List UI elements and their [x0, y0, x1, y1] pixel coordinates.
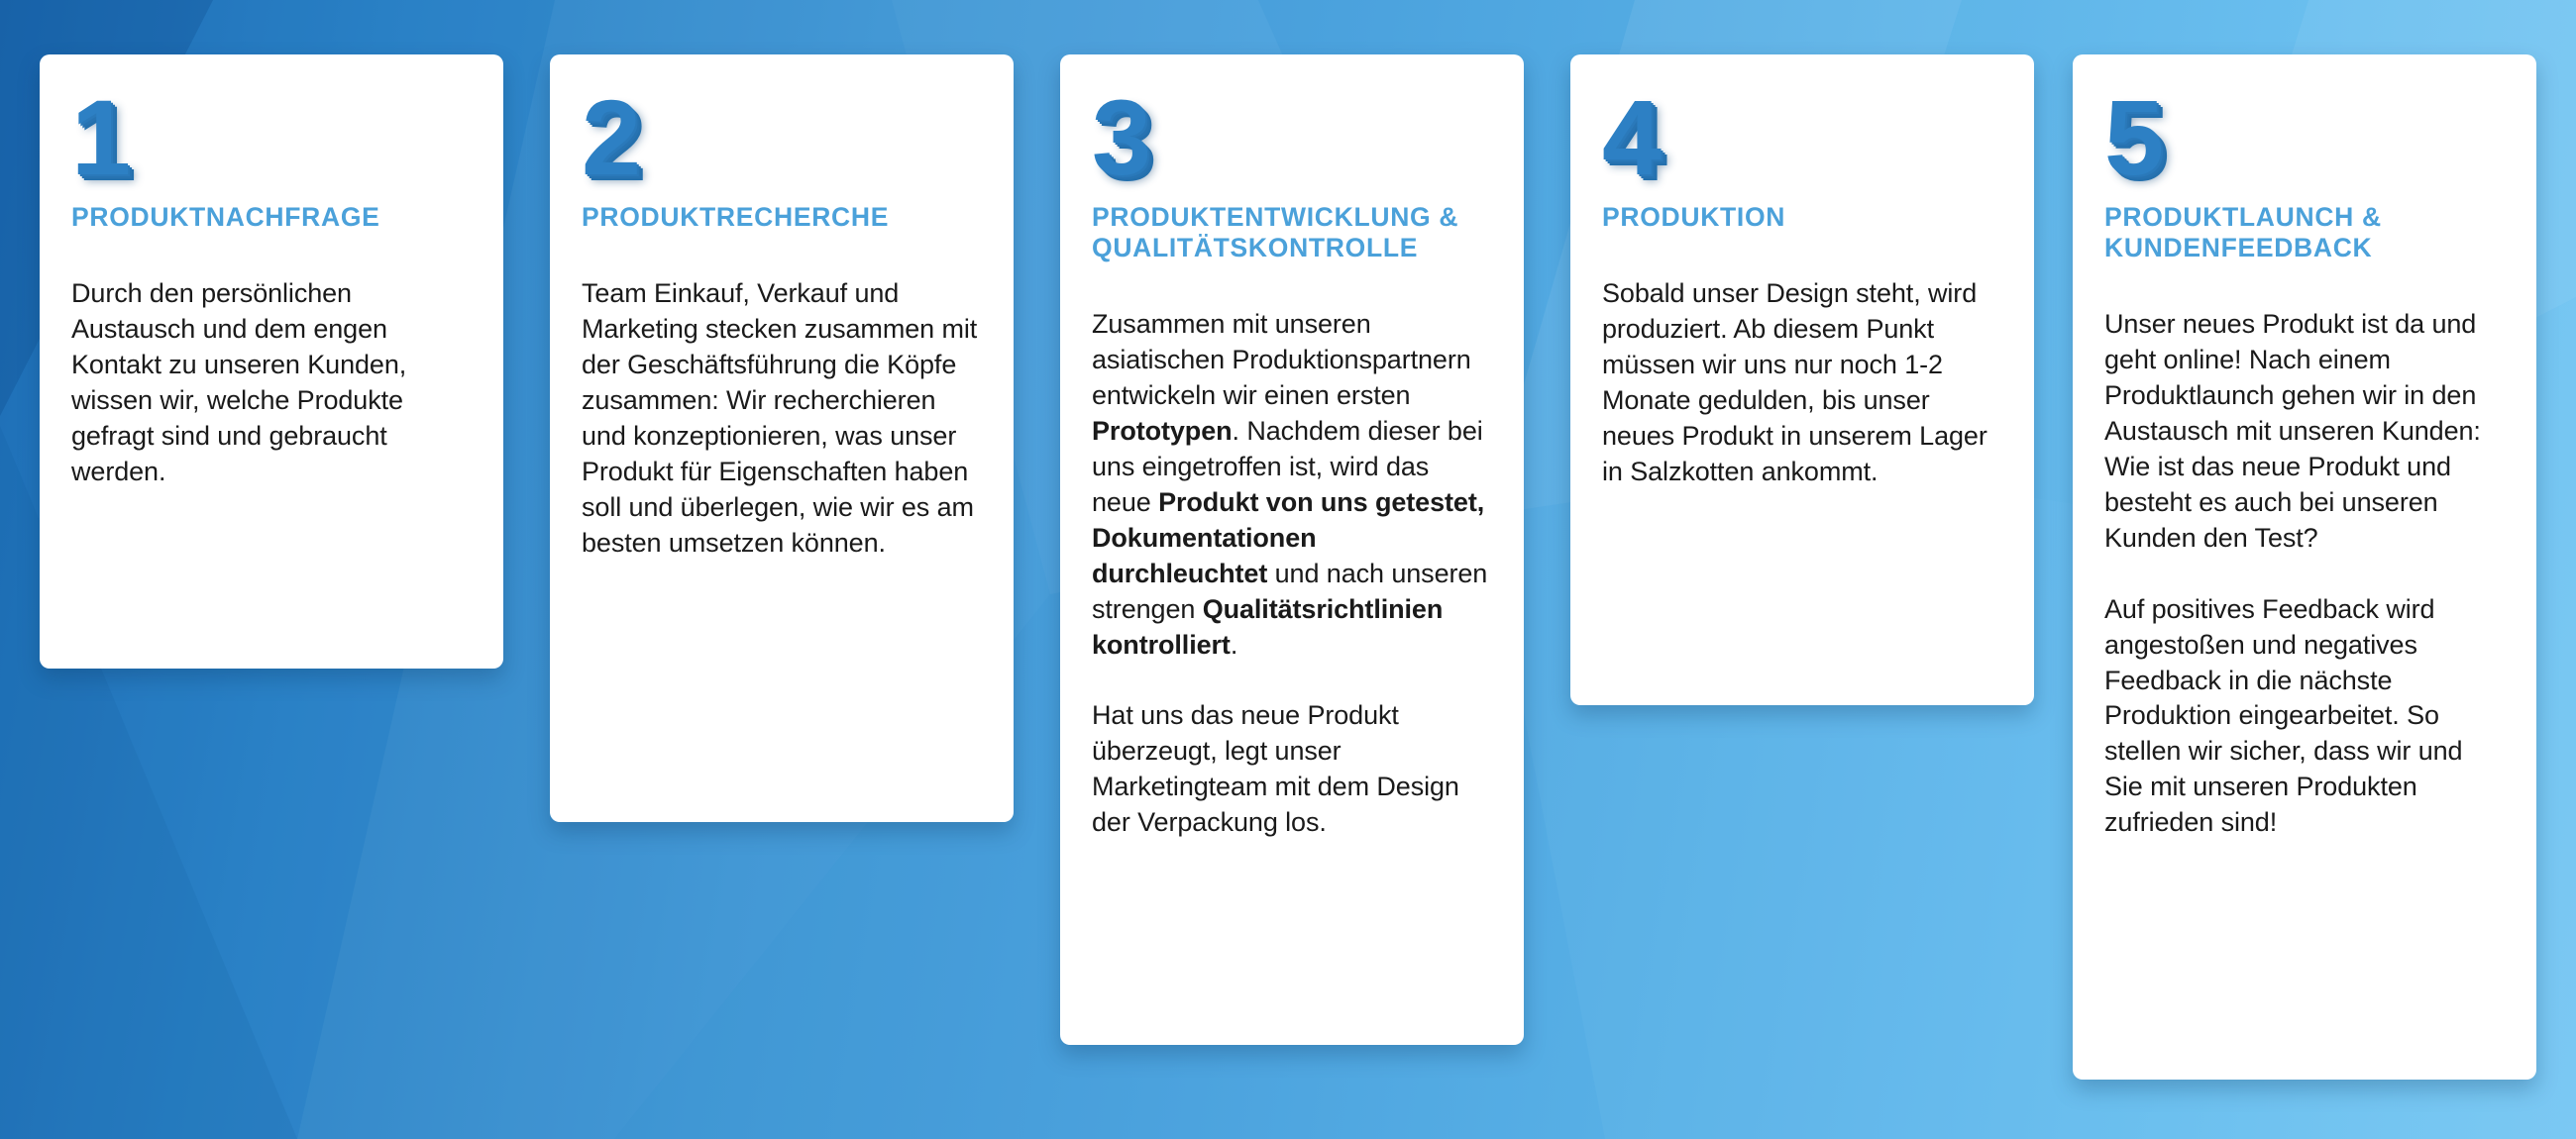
plain-text: Team Einkauf, Verkauf und Marketing stec…	[582, 278, 977, 557]
process-card-2[interactable]: 2 PRODUKTRECHERCHE Team Einkauf, Verkauf…	[550, 54, 1014, 822]
step-heading: PRODUKTION	[1602, 202, 2002, 233]
step-body: Sobald unser Design steht, wird produzie…	[1602, 276, 2002, 489]
step-body: Team Einkauf, Verkauf und Marketing stec…	[582, 276, 982, 561]
step-body: Zusammen mit unseren asiatischen Produkt…	[1092, 307, 1492, 841]
plain-text: Unser neues Produkt ist da und geht onli…	[2104, 309, 2481, 552]
step-paragraph: Auf positives Feedback wird angestoßen u…	[2104, 592, 2505, 841]
plain-text: Auf positives Feedback wird angestoßen u…	[2104, 594, 2462, 837]
plain-text: Sobald unser Design steht, wird produzie…	[1602, 278, 1987, 486]
step-heading: PRODUKTNACHFRAGE	[71, 202, 472, 233]
step-number: 3	[1092, 88, 1492, 186]
step-paragraph: Durch den persönlichen Austausch und dem…	[71, 276, 472, 489]
plain-text: .	[1231, 630, 1237, 660]
step-heading: PRODUKTRECHERCHE	[582, 202, 982, 233]
process-card-3[interactable]: 3 PRODUKTENTWICKLUNG & QUALITÄTSKONTROLL…	[1060, 54, 1524, 1045]
step-paragraph: Hat uns das neue Produkt überzeugt, legt…	[1092, 698, 1492, 841]
step-paragraph: Unser neues Produkt ist da und geht onli…	[2104, 307, 2505, 556]
plain-text: Hat uns das neue Produkt überzeugt, legt…	[1092, 700, 1459, 837]
process-card-5[interactable]: 5 PRODUKTLAUNCH & KUNDENFEEDBACK Unser n…	[2073, 54, 2536, 1080]
step-number: 5	[2104, 88, 2505, 186]
step-body: Unser neues Produkt ist da und geht onli…	[2104, 307, 2505, 841]
plain-text: Durch den persönlichen Austausch und dem…	[71, 278, 406, 486]
step-number: 1	[71, 88, 472, 186]
process-card-1[interactable]: 1 PRODUKTNACHFRAGE Durch den persönliche…	[40, 54, 503, 669]
step-paragraph: Sobald unser Design steht, wird produzie…	[1602, 276, 2002, 489]
step-number: 2	[582, 88, 982, 186]
plain-text: Zusammen mit unseren asiatischen Produkt…	[1092, 309, 1471, 410]
step-number: 4	[1602, 88, 2002, 186]
step-paragraph: Team Einkauf, Verkauf und Marketing stec…	[582, 276, 982, 561]
step-heading: PRODUKTLAUNCH & KUNDENFEEDBACK	[2104, 202, 2505, 263]
emphasis-text: Prototypen	[1092, 416, 1233, 446]
step-paragraph: Zusammen mit unseren asiatischen Produkt…	[1092, 307, 1492, 663]
step-body: Durch den persönlichen Austausch und dem…	[71, 276, 472, 489]
process-card-4[interactable]: 4 PRODUKTION Sobald unser Design steht, …	[1570, 54, 2034, 705]
step-heading: PRODUKTENTWICKLUNG & QUALITÄTSKONTROLLE	[1092, 202, 1492, 263]
process-step-board: 1 PRODUKTNACHFRAGE Durch den persönliche…	[0, 0, 2576, 1139]
